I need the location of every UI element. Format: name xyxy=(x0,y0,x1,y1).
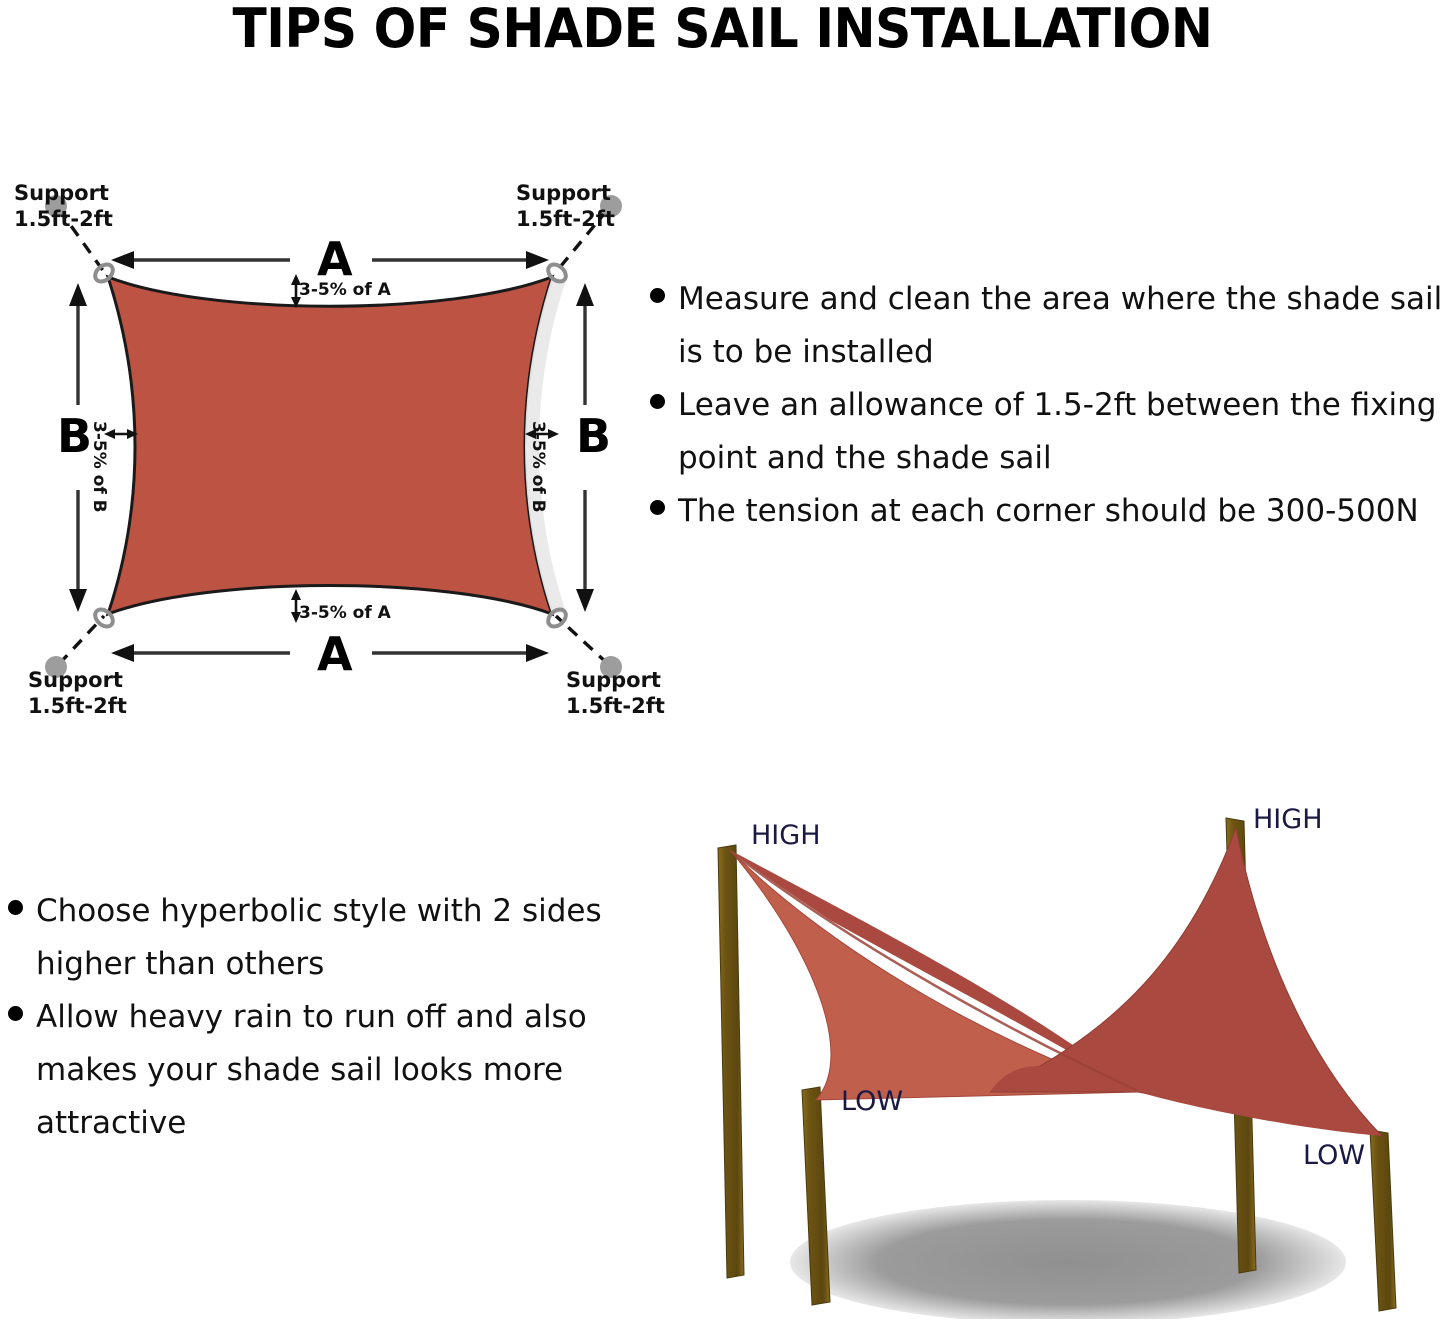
post-high-left xyxy=(718,845,744,1278)
list-item: Leave an allowance of 1.5-2ft between th… xyxy=(650,379,1445,485)
bullet-dot-icon xyxy=(650,288,665,303)
curve-label-left: 3-5% of B xyxy=(89,421,108,513)
list-item-text: Choose hyperbolic style with 2 sides hig… xyxy=(36,885,620,991)
bullet-dot-icon xyxy=(650,500,665,515)
sail-right-panel xyxy=(990,828,1382,1136)
post-low-right xyxy=(1370,1130,1396,1311)
support-label-line1: Support xyxy=(28,668,123,692)
support-label-top-left: Support 1.5ft-2ft xyxy=(14,180,113,232)
dimension-letter-A-bottom: A xyxy=(317,631,353,677)
hyperbolic-tips-list: Choose hyperbolic style with 2 sides hig… xyxy=(8,885,620,1150)
list-item-text: Allow heavy rain to run off and also mak… xyxy=(36,991,620,1150)
sail-shape xyxy=(108,277,552,614)
list-item: Allow heavy rain to run off and also mak… xyxy=(8,991,620,1150)
curve-label-right: 3-5% of B xyxy=(528,421,547,513)
support-label-line2: 1.5ft-2ft xyxy=(566,694,665,718)
list-item-text: Leave an allowance of 1.5-2ft between th… xyxy=(678,379,1445,485)
support-label-bottom-left: Support 1.5ft-2ft xyxy=(28,667,127,719)
ground-shadow xyxy=(790,1200,1346,1319)
list-item-text: The tension at each corner should be 300… xyxy=(678,485,1419,538)
support-label-line2: 1.5ft-2ft xyxy=(28,694,127,718)
dimension-letter-B-right: B xyxy=(576,413,611,459)
dimension-letter-A-top: A xyxy=(317,236,353,282)
support-label-line2: 1.5ft-2ft xyxy=(14,207,113,231)
dimension-letter-B-left: B xyxy=(57,413,92,459)
support-label-line1: Support xyxy=(516,181,611,205)
bullet-dot-icon xyxy=(650,394,665,409)
post-label-high-right: HIGH xyxy=(1253,805,1323,835)
infographic-page: TIPS OF SHADE SAIL INSTALLATION xyxy=(0,0,1445,1319)
support-label-top-right: Support 1.5ft-2ft xyxy=(516,180,615,232)
installation-tips-list: Measure and clean the area where the sha… xyxy=(650,273,1445,538)
post-label-low-left: LOW xyxy=(841,1087,903,1117)
support-label-line1: Support xyxy=(566,668,661,692)
support-label-line1: Support xyxy=(14,181,109,205)
post-label-low-right: LOW xyxy=(1303,1141,1365,1171)
list-item: Measure and clean the area where the sha… xyxy=(650,273,1445,379)
page-title: TIPS OF SHADE SAIL INSTALLATION xyxy=(51,0,1395,62)
post-label-high-left: HIGH xyxy=(751,821,821,851)
support-label-bottom-right: Support 1.5ft-2ft xyxy=(566,667,665,719)
bullet-dot-icon xyxy=(8,1006,23,1021)
curve-label-bottom: 3-5% of A xyxy=(299,604,391,623)
bullet-dot-icon xyxy=(8,900,23,915)
list-item-text: Measure and clean the area where the sha… xyxy=(678,273,1445,379)
curve-label-top: 3-5% of A xyxy=(299,281,391,300)
list-item: Choose hyperbolic style with 2 sides hig… xyxy=(8,885,620,991)
support-label-line2: 1.5ft-2ft xyxy=(516,207,615,231)
hyperbolic-sail-illustration xyxy=(690,800,1445,1319)
list-item: The tension at each corner should be 300… xyxy=(650,485,1445,538)
